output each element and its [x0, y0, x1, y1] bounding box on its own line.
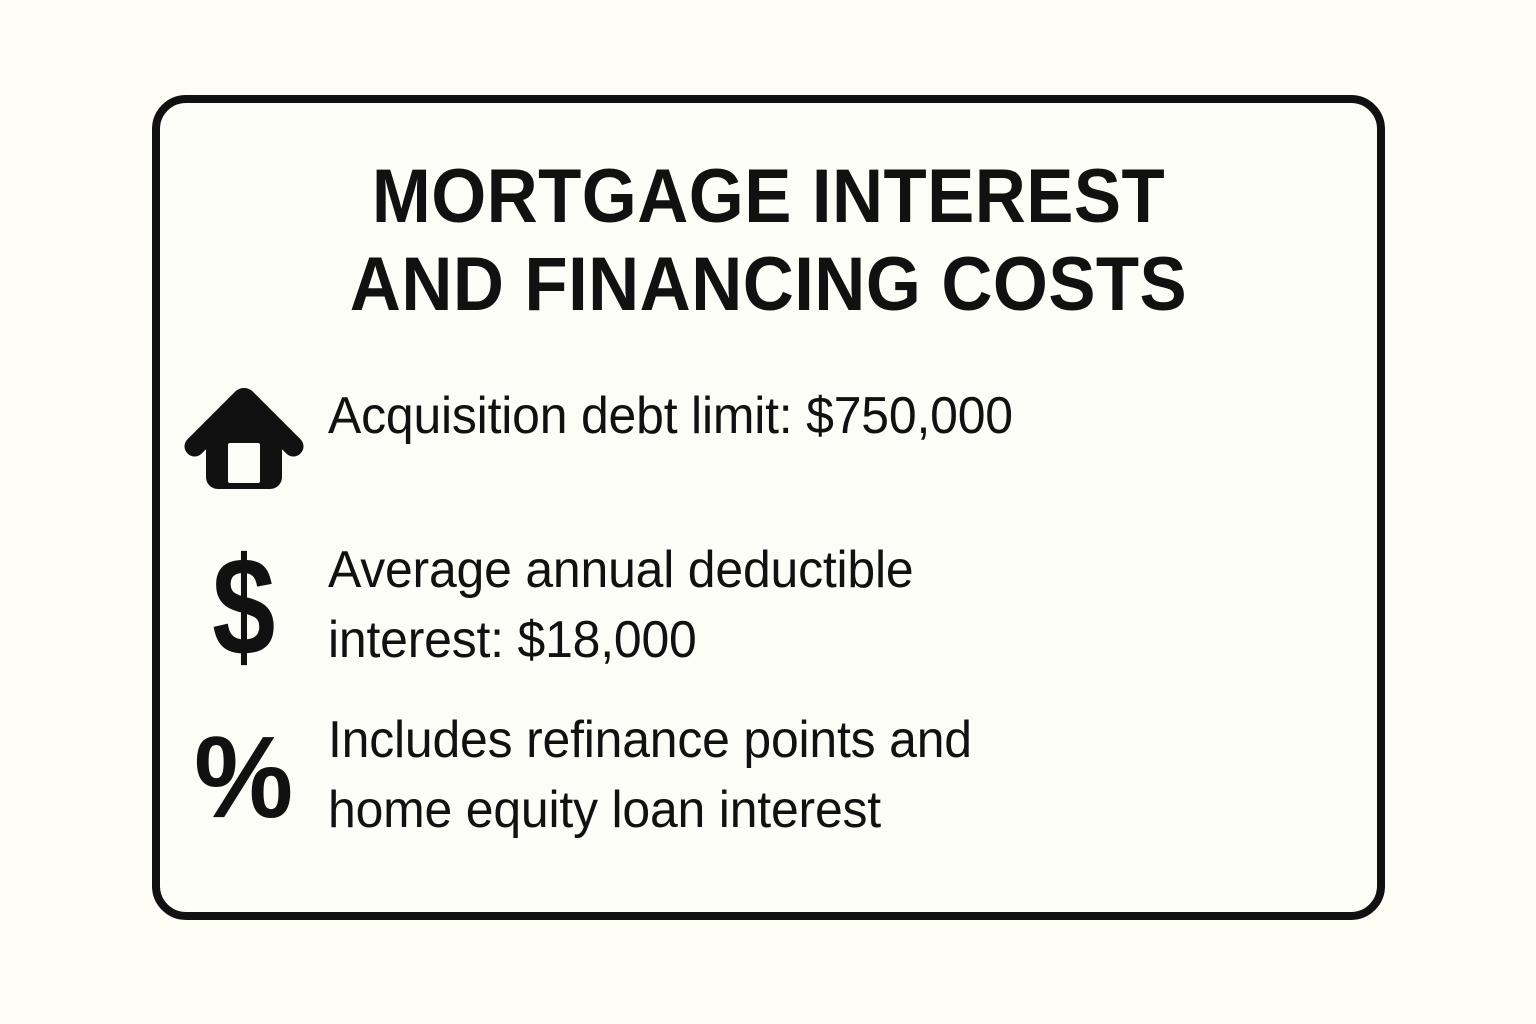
card-title-line-2: AND FINANCING COSTS	[203, 241, 1335, 329]
card-title: MORTGAGE INTEREST AND FINANCING COSTS	[160, 153, 1377, 329]
list-item-text-line-1: Acquisition debt limit: $750,000	[328, 387, 1013, 445]
card-title-line-1: MORTGAGE INTEREST	[203, 153, 1335, 241]
home-icon	[182, 385, 306, 493]
list-item-icon-slot: %	[160, 705, 328, 835]
list-item-text-line-2: home equity loan interest	[328, 775, 1277, 845]
list-item: % Includes refinance points and home equ…	[160, 705, 1377, 845]
fact-list: Acquisition debt limit: $750,000 $ Avera…	[160, 381, 1377, 845]
percent-sign-icon: %	[194, 719, 293, 835]
list-item-text-line-1: Includes refinance points and	[328, 705, 1277, 775]
list-item-text-line-1: Average annual deductible	[328, 535, 1277, 605]
page-root: MORTGAGE INTEREST AND FINANCING COSTS Ac…	[0, 0, 1536, 1024]
info-card: MORTGAGE INTEREST AND FINANCING COSTS Ac…	[152, 95, 1385, 920]
list-item-text: Average annual deductible interest: $18,…	[328, 535, 1335, 675]
list-item-text: Acquisition debt limit: $750,000	[328, 381, 1335, 451]
dollar-sign-icon: $	[212, 537, 275, 677]
list-item-icon-slot: $	[160, 535, 328, 673]
list-item: $ Average annual deductible interest: $1…	[160, 535, 1377, 675]
list-item: Acquisition debt limit: $750,000	[160, 381, 1377, 493]
list-item-icon-slot	[160, 381, 328, 493]
list-item-text-line-2: interest: $18,000	[328, 605, 1277, 675]
list-item-text: Includes refinance points and home equit…	[328, 705, 1335, 845]
